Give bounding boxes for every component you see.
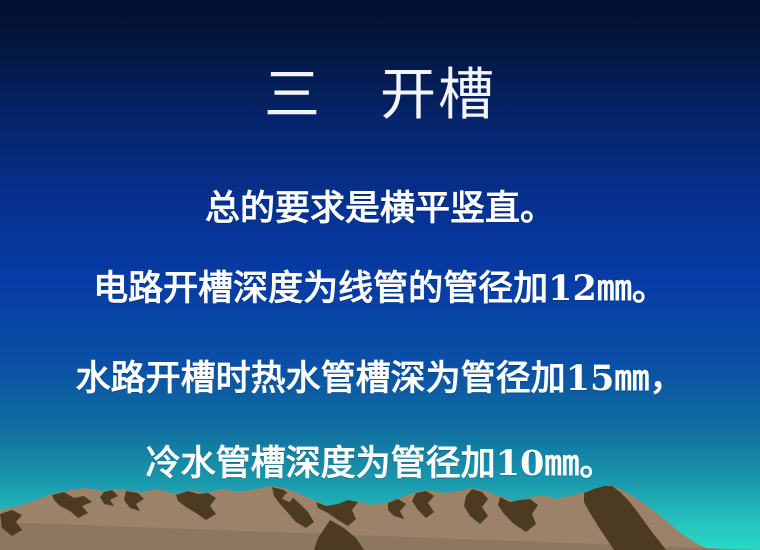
slide-canvas: 三 开槽 总的要求是横平竖直。 电路开槽深度为线管的管径加12㎜。 水路开槽时热…	[0, 0, 760, 550]
body-line-4: 冷水管槽深度为管径加10㎜。	[0, 445, 760, 484]
body-line-3: 水路开槽时热水管槽深为管径加15㎜，	[0, 360, 760, 399]
body-line-2: 电路开槽深度为线管的管径加12㎜。	[0, 270, 760, 309]
body-line-1: 总的要求是横平竖直。	[0, 190, 760, 229]
mountain-range-icon	[0, 480, 760, 550]
page-title: 三 开槽	[0, 64, 760, 128]
